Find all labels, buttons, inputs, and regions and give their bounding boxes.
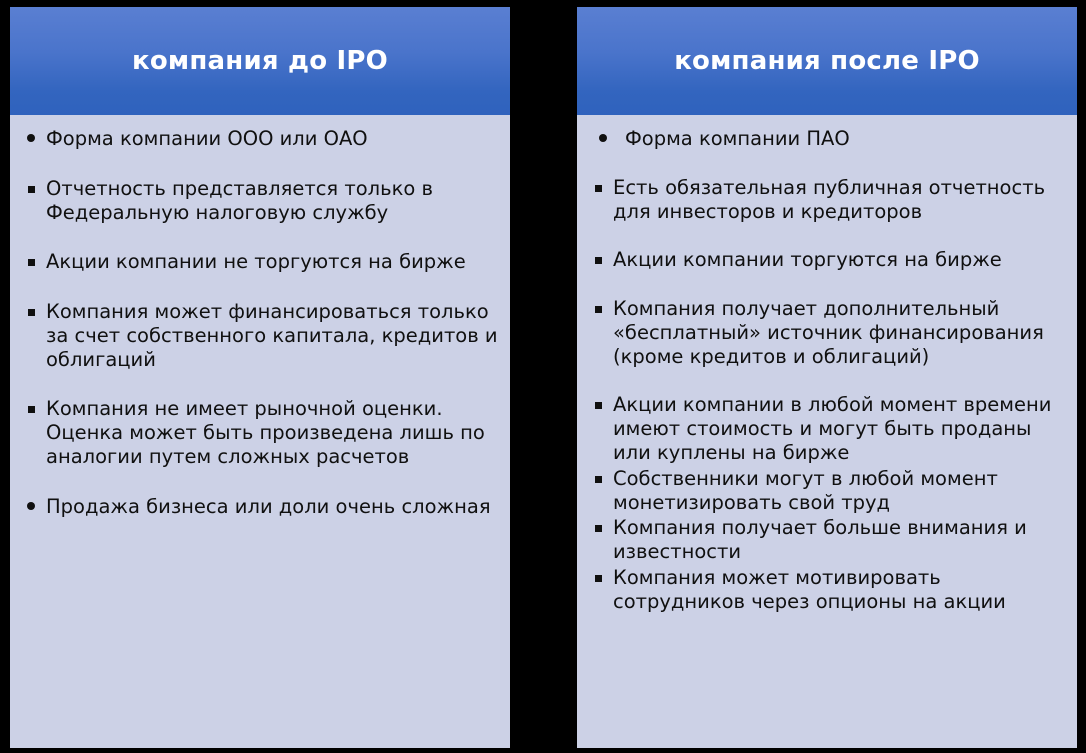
list-item-text: Продажа бизнеса или доли очень сложная	[46, 495, 491, 518]
square-bullet-icon	[595, 476, 602, 483]
list-item: Акции компании в любой момент времени им…	[587, 393, 1067, 464]
comparison-slide: компания до IPO Форма компании ООО или О…	[0, 0, 1086, 753]
bullet-list-after-ipo: Форма компании ПАО Есть обязательная пуб…	[587, 127, 1067, 614]
list-item: Компания получает дополнительный «беспла…	[587, 297, 1067, 368]
list-item: Акции компании торгуются на бирже	[587, 248, 1067, 272]
list-item: Отчетность представляется только в Федер…	[20, 177, 500, 225]
list-item-text: Форма компании ПАО	[625, 127, 850, 150]
round-bullet-icon	[27, 134, 35, 142]
list-item: Собственники могут в любой момент монети…	[587, 467, 1067, 515]
list-item: Форма компании ООО или ОАО	[20, 127, 500, 151]
column-title-after-ipo: компания после IPO	[674, 47, 980, 76]
square-bullet-icon	[595, 575, 602, 582]
column-after-ipo: компания после IPO Форма компании ПАО Ес…	[577, 7, 1077, 748]
column-header-before-ipo: компания до IPO	[10, 7, 510, 115]
column-title-before-ipo: компания до IPO	[132, 47, 388, 76]
square-bullet-icon	[595, 525, 602, 532]
list-item-text: Компания может мотивировать сотрудников …	[613, 566, 1006, 613]
column-body-after-ipo: Форма компании ПАО Есть обязательная пуб…	[577, 115, 1077, 748]
square-bullet-icon	[595, 257, 602, 264]
square-bullet-icon	[28, 259, 35, 266]
column-header-after-ipo: компания после IPO	[577, 7, 1077, 115]
list-item-text: Акции компании в любой момент времени им…	[613, 393, 1051, 464]
list-item-text: Компания не имеет рыночной оценки. Оценк…	[46, 397, 485, 468]
round-bullet-icon	[27, 502, 35, 510]
list-item: Компания получает больше внимания и изве…	[587, 516, 1067, 564]
list-item-text: Есть обязательная публичная отчетность д…	[613, 176, 1045, 223]
list-item: Компания может финансироваться только за…	[20, 300, 500, 371]
column-body-before-ipo: Форма компании ООО или ОАО Отчетность пр…	[10, 115, 510, 748]
square-bullet-icon	[28, 309, 35, 316]
list-item: Продажа бизнеса или доли очень сложная	[20, 495, 500, 519]
list-item-text: Компания может финансироваться только за…	[46, 300, 498, 371]
list-item-text: Акции компании не торгуются на бирже	[46, 250, 466, 273]
list-item-text: Отчетность представляется только в Федер…	[46, 177, 433, 224]
list-item-text: Собственники могут в любой момент монети…	[613, 467, 998, 514]
list-item: Форма компании ПАО	[587, 127, 1067, 151]
round-bullet-icon	[599, 134, 607, 142]
list-item: Есть обязательная публичная отчетность д…	[587, 176, 1067, 224]
list-item-text: Компания получает больше внимания и изве…	[613, 516, 1027, 563]
square-bullet-icon	[28, 186, 35, 193]
list-item-text: Форма компании ООО или ОАО	[46, 127, 368, 150]
bullet-list-before-ipo: Форма компании ООО или ОАО Отчетность пр…	[20, 127, 500, 519]
list-item: Компания может мотивировать сотрудников …	[587, 566, 1067, 614]
square-bullet-icon	[28, 406, 35, 413]
square-bullet-icon	[595, 402, 602, 409]
list-item-text: Акции компании торгуются на бирже	[613, 248, 1002, 271]
list-item-text: Компания получает дополнительный «беспла…	[613, 297, 1044, 368]
square-bullet-icon	[595, 185, 602, 192]
column-before-ipo: компания до IPO Форма компании ООО или О…	[10, 7, 510, 748]
square-bullet-icon	[595, 306, 602, 313]
list-item: Акции компании не торгуются на бирже	[20, 250, 500, 274]
list-item: Компания не имеет рыночной оценки. Оценк…	[20, 397, 500, 468]
